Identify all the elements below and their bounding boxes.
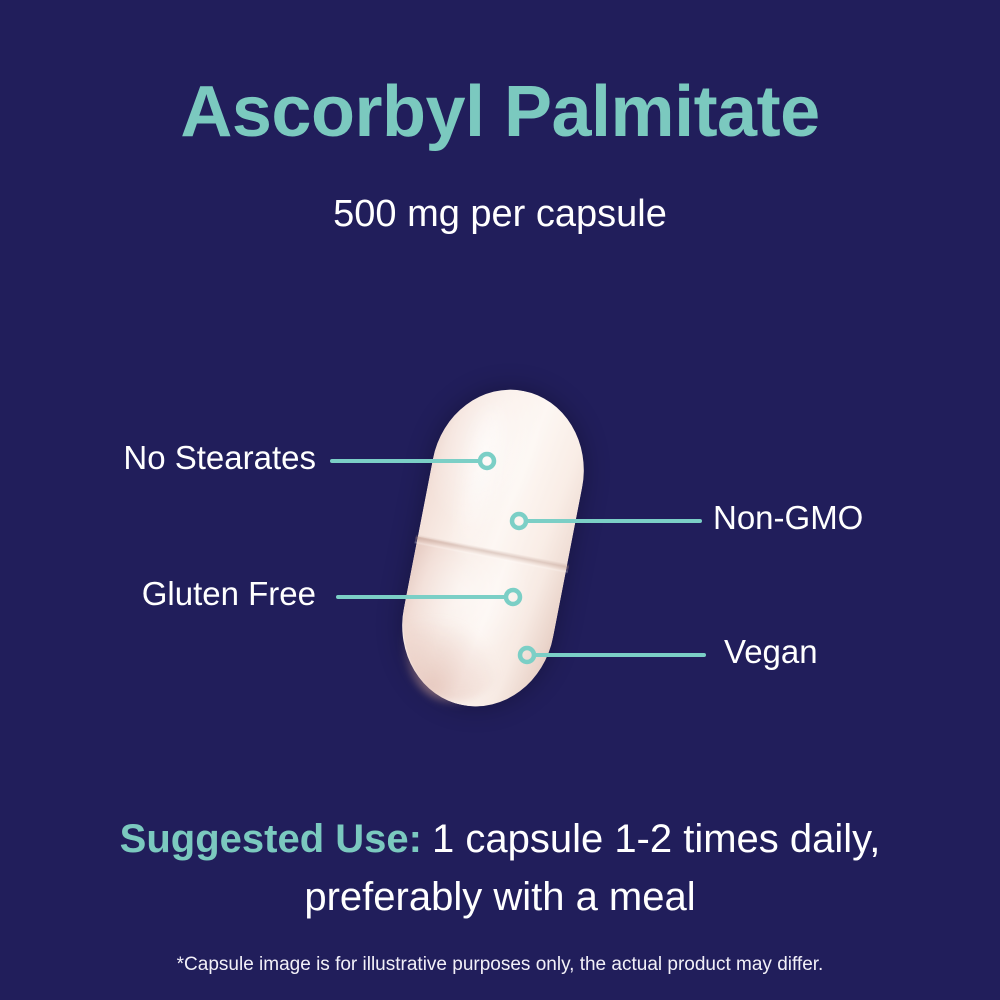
callout-label-gluten-free: Gluten Free — [105, 577, 316, 610]
suggested-use-block: Suggested Use:1 capsule 1-2 times daily,… — [0, 810, 1000, 926]
suggested-use-line-2: preferably with a meal — [0, 868, 1000, 926]
disclaimer-text: *Capsule image is for illustrative purpo… — [0, 955, 1000, 974]
dosage-subtitle: 500 mg per capsule — [0, 195, 1000, 233]
callout-label-no-stearates: No Stearates — [78, 441, 316, 474]
page-title: Ascorbyl Palmitate — [0, 76, 1000, 148]
capsule-shell — [388, 376, 598, 719]
suggested-use-text-1: 1 capsule 1-2 times daily, — [432, 817, 880, 861]
suggested-use-line-1: Suggested Use:1 capsule 1-2 times daily, — [0, 810, 1000, 868]
suggested-use-lead: Suggested Use: — [120, 817, 422, 861]
capsule-icon — [388, 376, 598, 719]
capsule-highlight — [444, 404, 513, 569]
product-infographic: Ascorbyl Palmitate 500 mg per capsule No… — [0, 0, 1000, 1000]
callout-label-non-gmo: Non-GMO — [713, 501, 953, 534]
callout-label-vegan: Vegan — [724, 635, 914, 668]
